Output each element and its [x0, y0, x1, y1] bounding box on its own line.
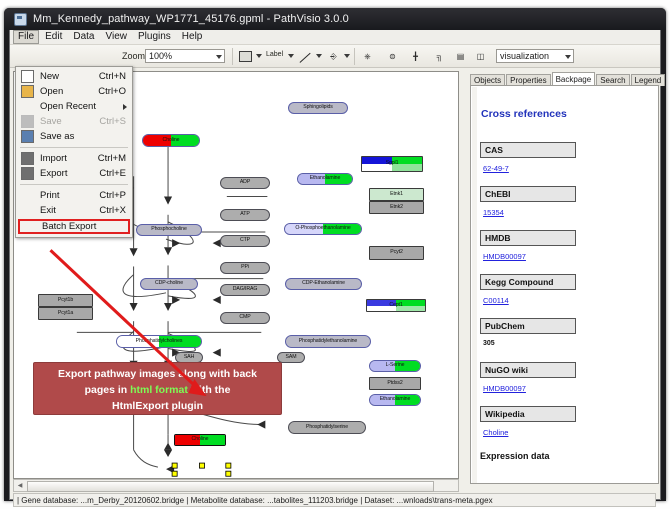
xref-label-wikipedia: Wikipedia — [480, 406, 576, 422]
node-label: DAG/IRAG — [233, 287, 258, 292]
node-label: CMP — [239, 315, 250, 320]
menu-item-label: Batch Export — [42, 221, 96, 232]
menu-view[interactable]: View — [100, 30, 132, 44]
menu-edit[interactable]: Edit — [40, 30, 67, 44]
pathway-node-etnk2[interactable]: Etnk2 — [369, 201, 424, 214]
file-menu-item-import[interactable]: ImportCtrl+M — [16, 151, 132, 166]
menubar: File Edit Data View Plugins Help — [10, 30, 660, 45]
pathway-node-ptdss2[interactable]: Ptdss2 — [369, 377, 421, 390]
xref-label-hmdb: HMDB — [480, 230, 576, 246]
node-label: O-Phosphoethanolamine — [295, 226, 350, 231]
line-dropdown-icon[interactable] — [316, 54, 322, 58]
menu-item-label: Open Recent — [40, 101, 96, 112]
toolbar: Zoom: 100% Label ⎆ ⎈ ⊜ ╋ ╗ ▤ — [10, 45, 660, 68]
xref-value-chebi[interactable]: 15354 — [483, 208, 504, 217]
menu-file[interactable]: File — [13, 30, 39, 44]
node-label: SAM — [286, 355, 297, 360]
pathway-node-pcyt2[interactable]: Pcyt2 — [369, 246, 424, 260]
interaction-icon[interactable]: ⎆ — [326, 49, 341, 64]
menu-item-label: Print — [40, 190, 60, 201]
zoom-value: 100% — [149, 51, 172, 61]
menu-item-label: Exit — [40, 205, 56, 216]
node-label: Etnk2 — [390, 205, 403, 210]
export-icon — [21, 167, 34, 180]
node-label: L-Serine — [386, 363, 405, 368]
zoom-combo[interactable]: 100% — [145, 49, 225, 63]
scroll-left-icon[interactable]: ◀ — [15, 481, 25, 490]
align-top-icon[interactable]: ⎈ — [360, 49, 375, 64]
pathway-node-sgpl1[interactable]: Sgpl1 — [361, 156, 423, 172]
node-label: Phosphocholine — [151, 227, 187, 232]
node-label: PPi — [241, 265, 249, 270]
hscroll-thumb[interactable] — [27, 481, 434, 492]
node-label: Phosphatidylcholines — [136, 339, 183, 344]
pathway-node-o-phosphoethanolamine[interactable]: O-Phosphoethanolamine — [284, 223, 362, 235]
save-disk-icon — [21, 115, 34, 128]
save-as-icon — [21, 130, 34, 143]
node-label: Cept1 — [389, 303, 402, 308]
xref-label-cas: CAS — [480, 142, 576, 158]
pathway-node-ppi[interactable]: PPi — [220, 262, 270, 274]
xref-value-hmdb[interactable]: HMDB00097 — [483, 252, 526, 261]
node-label: Pcyt1b — [58, 298, 73, 303]
application-window: Mm_Kennedy_pathway_WP1771_45176.gpml - P… — [4, 8, 666, 501]
callout-line-2: pages in html format with the — [34, 382, 281, 398]
application-client-area: File Edit Data View Plugins Help Zoom: 1… — [9, 30, 661, 500]
menu-item-label: Save — [40, 116, 62, 127]
pathway-node-phosphatidylethanolamine[interactable]: Phosphatidylethanolamine — [285, 335, 371, 348]
align-left-icon[interactable]: ⊜ — [385, 49, 400, 64]
xref-label-nugo-wiki: NuGO wiki — [480, 362, 576, 378]
pathway-node-atp[interactable]: ATP — [220, 209, 270, 221]
pathway-node-choline-selected[interactable]: Choline — [174, 434, 226, 446]
menu-separator — [20, 184, 128, 185]
tab-backpage[interactable]: Backpage — [552, 72, 596, 86]
pathway-node-phosphatidylcholines[interactable]: Phosphatidylcholines — [116, 335, 202, 348]
file-menu-item-save: SaveCtrl+S — [16, 114, 132, 129]
label-icon[interactable]: Label — [266, 51, 283, 58]
menu-item-label: Export — [40, 168, 67, 179]
chevron-right-icon — [123, 104, 127, 110]
xref-label-pubchem: PubChem — [480, 318, 576, 334]
node-label: SAH — [184, 355, 194, 360]
new-file-icon — [21, 70, 34, 83]
node-label: Sphingolipids — [303, 105, 333, 110]
file-menu-item-batch-export[interactable]: Batch Export — [18, 219, 130, 234]
xref-value-nugo-wiki[interactable]: HMDB00097 — [483, 384, 526, 393]
chevron-down-icon — [565, 55, 571, 59]
datanode-icon[interactable] — [238, 49, 253, 64]
xref-value-wikipedia[interactable]: Choline — [483, 428, 508, 437]
chevron-down-icon — [216, 55, 222, 59]
menu-item-shortcut: Ctrl+P — [99, 190, 126, 201]
side-panel: Objects Properties Backpage Search Legen… — [462, 71, 659, 492]
file-menu-item-exit[interactable]: ExitCtrl+X — [16, 203, 132, 218]
cross-references-heading: Cross references — [481, 108, 567, 120]
menu-item-label: Save as — [40, 131, 74, 142]
xref-value-cas[interactable]: 62-49-7 — [483, 164, 509, 173]
pathway-node-phosphatidylserine[interactable]: Phosphatidylserine — [288, 421, 366, 434]
xref-label-chebi: ChEBI — [480, 186, 576, 202]
distribute-h-icon[interactable]: ╋ — [408, 49, 423, 64]
node-label: Pcyt1a — [58, 311, 73, 316]
pathway-node-phosphocholine[interactable]: Phosphocholine — [136, 224, 202, 236]
line-icon[interactable] — [298, 49, 313, 64]
node-label: Ethanolamine — [380, 397, 411, 402]
menu-item-shortcut: Ctrl+E — [99, 168, 126, 179]
pathway-node-pcyt1b[interactable]: Pcyt1b — [38, 294, 93, 307]
file-menu-item-open[interactable]: OpenCtrl+O — [16, 84, 132, 99]
menu-plugins[interactable]: Plugins — [133, 30, 176, 44]
window-titlebar: Mm_Kennedy_pathway_WP1771_45176.gpml - P… — [4, 8, 666, 30]
interaction-dropdown-icon[interactable] — [344, 54, 350, 58]
file-menu-popup[interactable]: NewCtrl+NOpenCtrl+OOpen RecentSaveCtrl+S… — [15, 66, 133, 238]
zoom-label: Zoom: — [122, 51, 148, 61]
distribute-v-icon[interactable]: ╗ — [432, 49, 447, 64]
menu-item-label: Import — [40, 153, 67, 164]
callout-highlight: html format — [130, 384, 188, 396]
pathway-node-adp[interactable]: ADP — [220, 177, 270, 189]
pathway-node-cmp[interactable]: CMP — [220, 312, 270, 324]
pathway-node-ethanolamine-bottom[interactable]: Ethanolamine — [369, 394, 421, 406]
callout-line-1: Export pathway images along with back — [34, 366, 281, 382]
node-label: Choline — [192, 437, 209, 442]
visualization-value: visualization — [500, 51, 549, 61]
expression-data-heading: Expression data — [480, 451, 550, 461]
node-label: Sgpl1 — [386, 161, 399, 166]
callout-line-3: HtmlExport plugin — [34, 398, 281, 414]
pathway-node-cdp-ethanolamine[interactable]: CDP-Ethanolamine — [285, 278, 362, 290]
pathway-node-ctp[interactable]: CTP — [220, 235, 270, 247]
xref-label-kegg-compound: Kegg Compound — [480, 274, 576, 290]
menu-separator — [20, 147, 128, 148]
status-bar: | Gene database: ...m_Derby_20120602.bri… — [13, 493, 656, 507]
node-label: Choline — [163, 138, 180, 143]
node-label: Pcyt2 — [390, 250, 402, 255]
node-label: Etnk1 — [390, 192, 403, 197]
xref-value-pubchem: 305 — [483, 340, 495, 347]
menu-item-label: Open — [40, 86, 63, 97]
pathway-node-cept1[interactable]: Cept1 — [366, 299, 426, 312]
stack-icon[interactable]: ▤ — [453, 49, 468, 64]
group-icon[interactable]: ◫ — [473, 49, 488, 64]
file-menu-item-new[interactable]: NewCtrl+N — [16, 69, 132, 84]
pathway-node-choline-top[interactable]: Choline — [142, 134, 200, 147]
node-label: Ethanolamine — [310, 176, 341, 181]
menu-item-shortcut: Ctrl+X — [99, 205, 126, 216]
node-label: CDP-choline — [155, 281, 183, 286]
file-menu-item-open-recent[interactable]: Open Recent — [16, 99, 132, 114]
node-label: ADP — [240, 180, 250, 185]
file-menu-item-export[interactable]: ExportCtrl+E — [16, 166, 132, 181]
pathway-node-cdp-choline[interactable]: CDP-choline — [140, 278, 198, 290]
open-folder-icon — [21, 85, 34, 98]
screenshot-root: Mm_Kennedy_pathway_WP1771_45176.gpml - P… — [0, 0, 670, 509]
menu-item-label: New — [40, 71, 59, 82]
datanode-dropdown-icon[interactable] — [256, 54, 262, 58]
menu-help[interactable]: Help — [177, 30, 208, 44]
pathway-node-sphingolipids[interactable]: Sphingolipids — [288, 102, 348, 114]
pathway-node-ethanolamine-top[interactable]: Ethanolamine — [297, 173, 353, 185]
pathvisio-app-icon — [14, 13, 27, 26]
callout-line2-suffix: with the — [188, 384, 231, 396]
side-panel-tabs: Objects Properties Backpage Search Legen… — [470, 71, 659, 86]
pathway-node-l-serine[interactable]: L-Serine — [369, 360, 421, 372]
node-label: Phosphatidylethanolamine — [299, 339, 357, 344]
window-title: Mm_Kennedy_pathway_WP1771_45176.gpml - P… — [33, 13, 349, 25]
xref-value-kegg-compound[interactable]: C00114 — [483, 296, 509, 305]
label-dropdown-icon[interactable] — [288, 54, 294, 58]
node-label: CDP-Ethanolamine — [302, 281, 345, 286]
pathway-node-pcyt1a[interactable]: Pcyt1a — [38, 307, 93, 320]
pathway-node-sam[interactable]: SAM — [277, 352, 305, 363]
backpage-content: Cross references CAS 62-49-7 ChEBI 15354… — [470, 85, 659, 484]
callout-line2-prefix: pages in — [85, 384, 131, 396]
visualization-combo[interactable]: visualization — [496, 49, 574, 63]
node-label: CTP — [240, 238, 250, 243]
import-icon — [21, 152, 34, 165]
menu-item-shortcut: Ctrl+S — [99, 116, 126, 127]
menu-item-shortcut: Ctrl+N — [99, 71, 126, 82]
node-label: ATP — [240, 212, 249, 217]
backpage-scrollbar[interactable] — [472, 87, 477, 484]
menu-data[interactable]: Data — [68, 30, 99, 44]
pathway-node-dag-diag[interactable]: DAG/IRAG — [220, 284, 270, 296]
canvas-hscrollbar[interactable]: ◀ — [13, 479, 459, 492]
node-label: Phosphatidylserine — [306, 425, 348, 430]
pathway-node-etnk1[interactable]: Etnk1 — [369, 188, 424, 201]
menu-item-shortcut: Ctrl+O — [98, 86, 126, 97]
file-menu-item-print[interactable]: PrintCtrl+P — [16, 188, 132, 203]
node-label: Ptdss2 — [387, 381, 402, 386]
menu-item-shortcut: Ctrl+M — [98, 153, 126, 164]
annotation-callout: Export pathway images along with back pa… — [33, 362, 282, 415]
file-menu-item-save-as[interactable]: Save as — [16, 129, 132, 144]
